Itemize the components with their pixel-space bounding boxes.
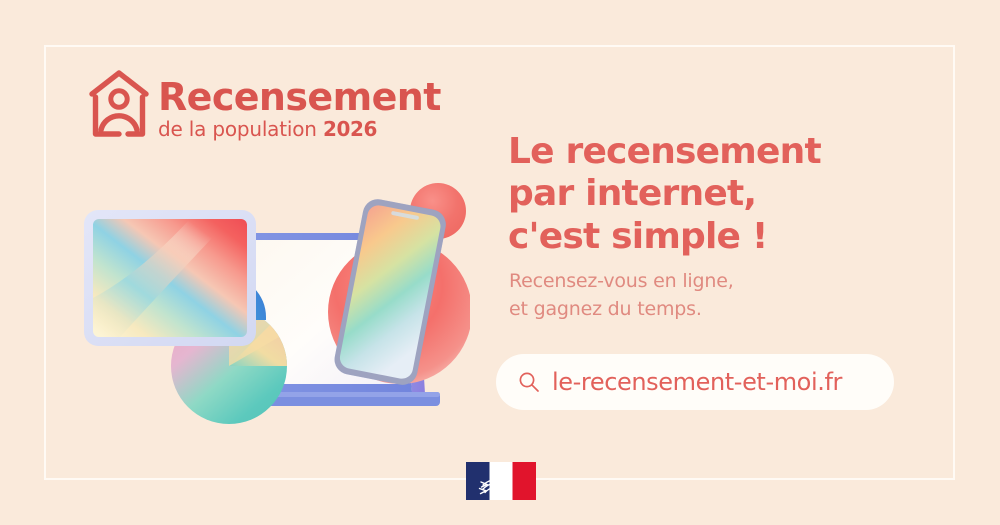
logo-year: 2026 <box>323 117 377 141</box>
subtitle: Recensez-vous en ligne, et gagnez du tem… <box>509 268 734 323</box>
logo-text-block: Recensement de la population 2026 <box>158 68 441 139</box>
headline-line-1: Le recensement <box>508 131 821 173</box>
subtitle-line-1: Recensez-vous en ligne, <box>509 268 734 296</box>
page-title: Le recensement par internet, c'est simpl… <box>508 131 821 258</box>
devices-illustration <box>80 178 470 433</box>
website-url-bar[interactable]: le-recensement-et-moi.fr <box>496 354 894 410</box>
recensement-logo: Recensement de la population 2026 <box>88 68 441 140</box>
house-with-person-icon <box>88 68 150 140</box>
logo-title: Recensement <box>158 78 441 116</box>
headline-line-2: par internet, <box>508 173 821 215</box>
french-republic-marianne-logo <box>466 462 536 500</box>
search-icon <box>518 371 540 393</box>
logo-subtitle-text: de la population <box>158 117 317 141</box>
website-url-text: le-recensement-et-moi.fr <box>552 368 842 396</box>
subtitle-line-2: et gagnez du temps. <box>509 296 734 324</box>
tablet <box>84 210 256 346</box>
logo-subtitle: de la population 2026 <box>158 119 441 139</box>
headline-line-3: c'est simple ! <box>508 216 821 258</box>
recensement-banner: Recensement de la population 2026 <box>0 0 1000 525</box>
